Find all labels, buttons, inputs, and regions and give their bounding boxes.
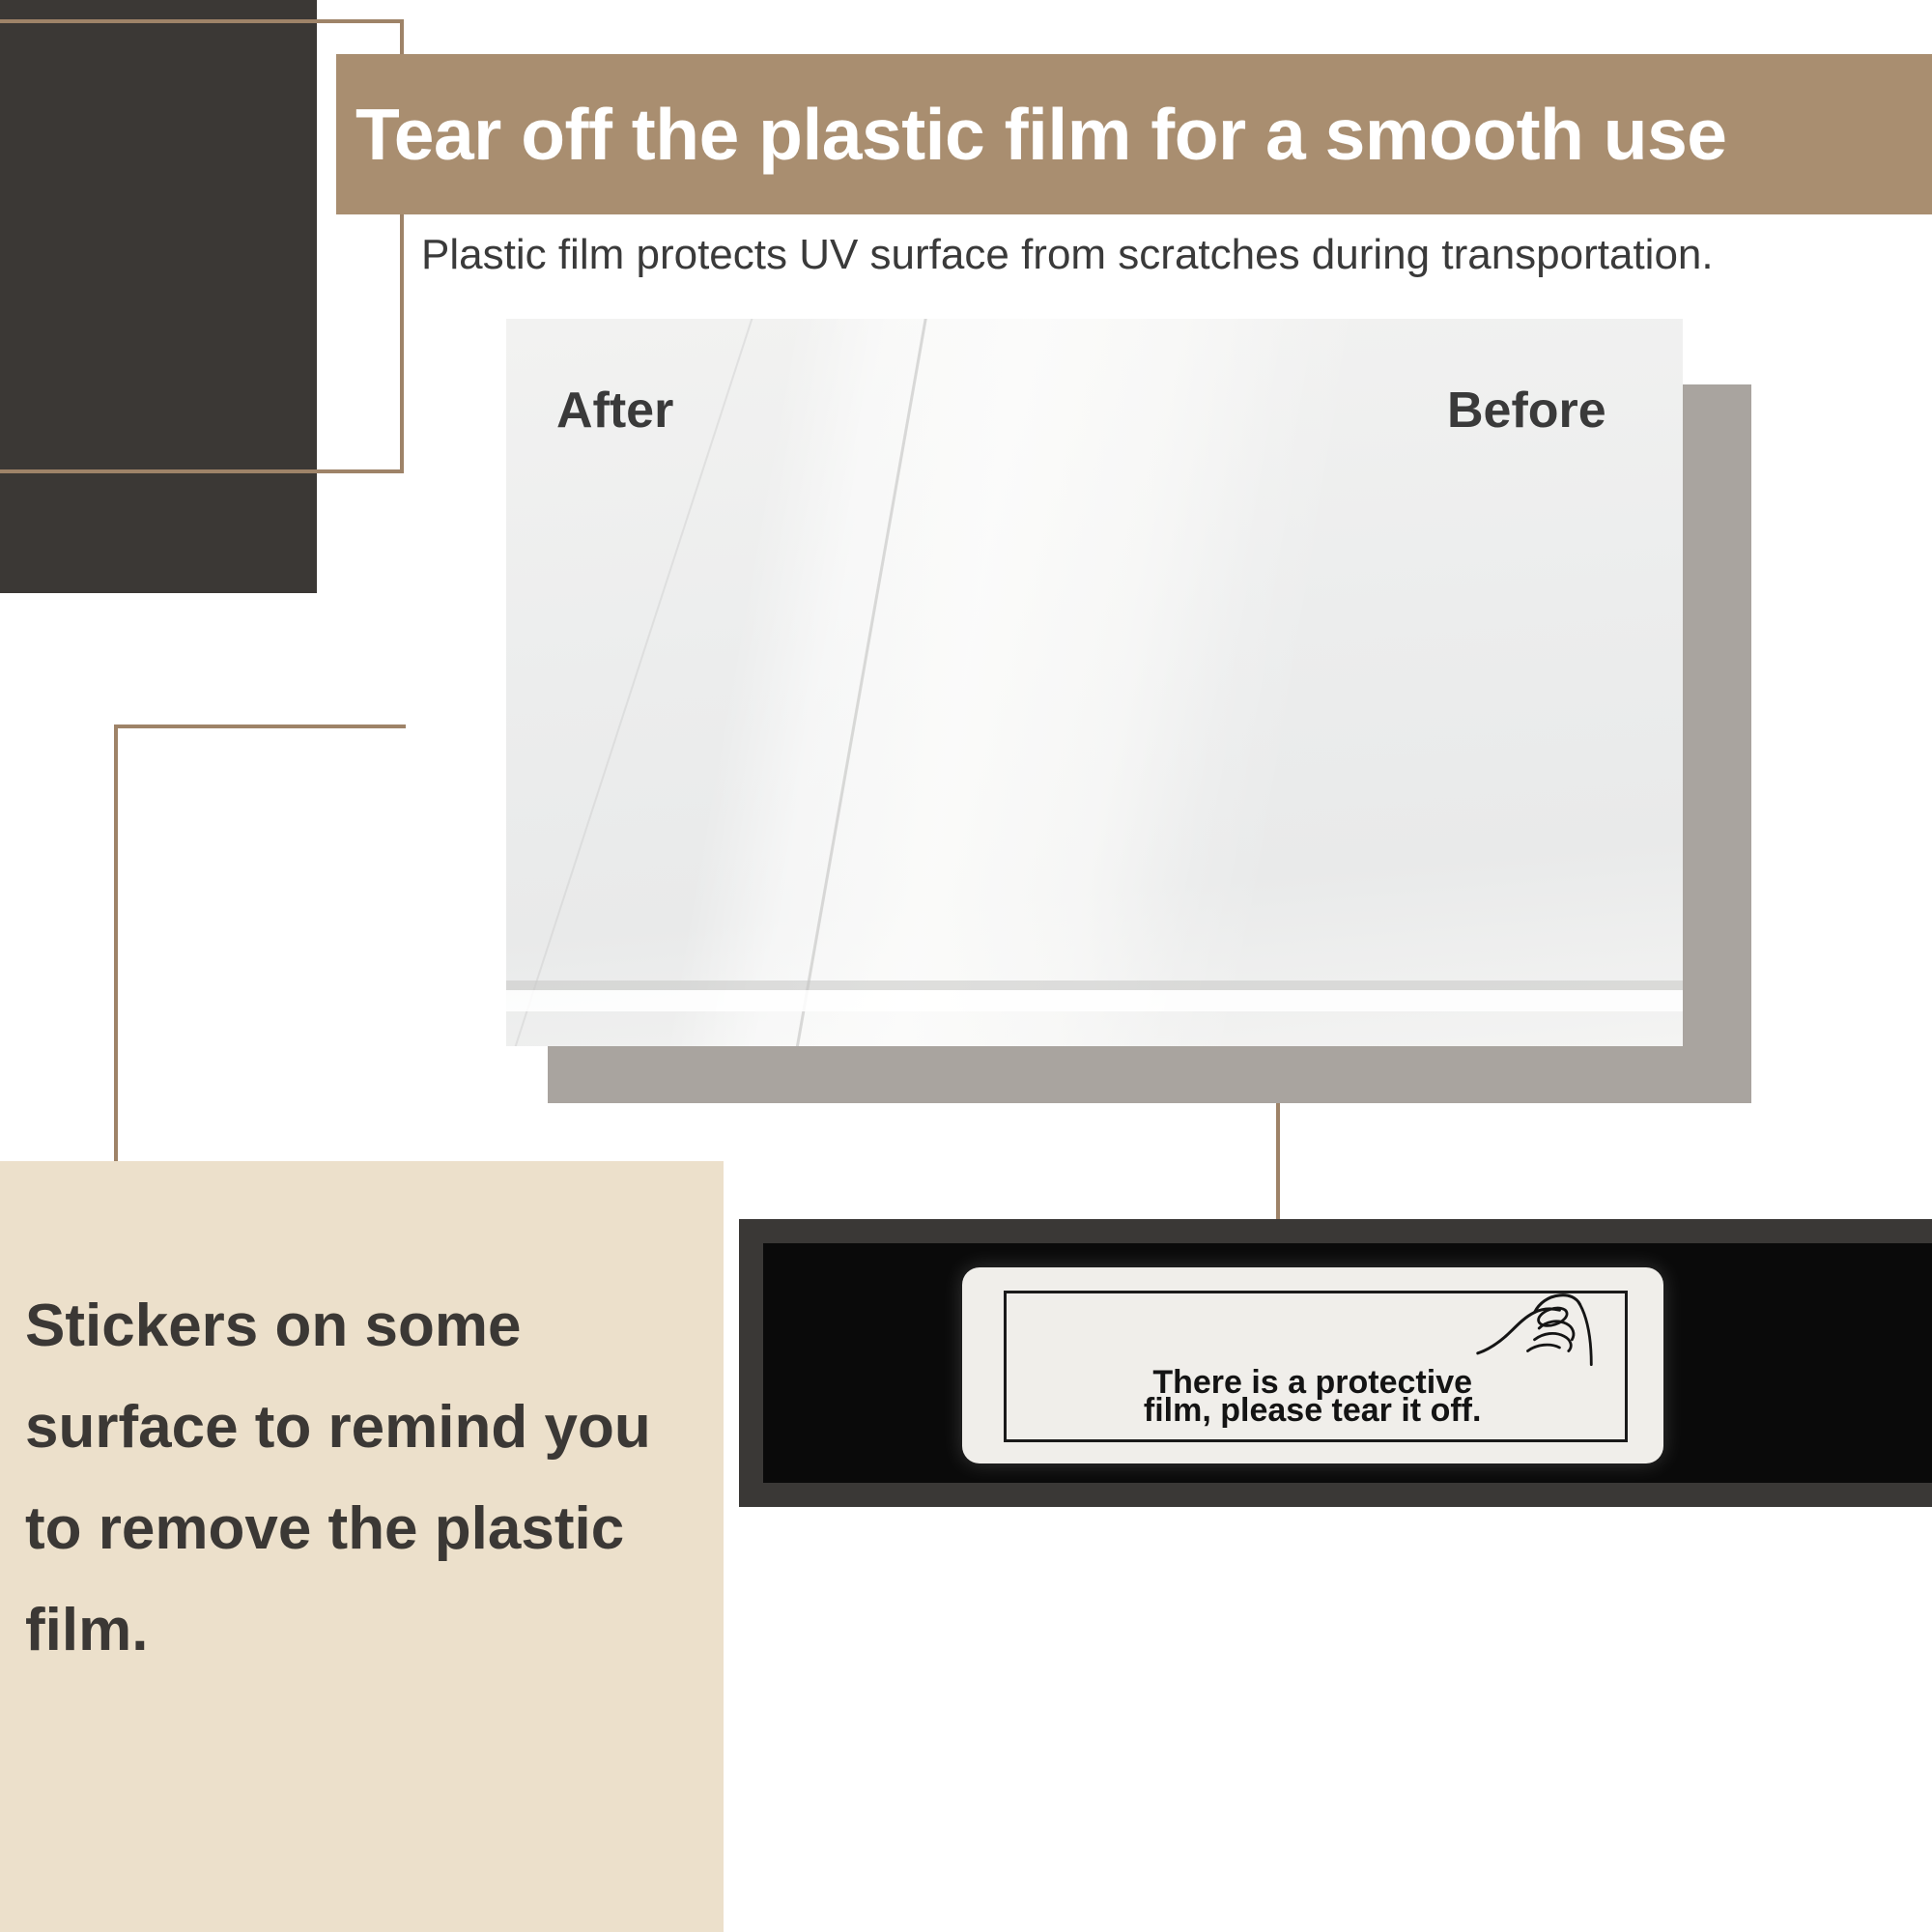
sticker-photo-background: There is a protective film, please tear … [763, 1243, 1932, 1483]
page-subtitle: Plastic film protects UV surface from sc… [421, 230, 1714, 280]
connector-line-horizontal [114, 724, 406, 728]
panel-edge-band [506, 980, 1683, 990]
label-before: Before [1447, 382, 1606, 440]
sticker-photo: There is a protective film, please tear … [739, 1219, 1932, 1507]
sticker-text-line2: film, please tear it off. [1032, 1389, 1593, 1432]
panel-bottom-highlight [506, 990, 1683, 1011]
callout-text: Stickers on some surface to remind you t… [25, 1275, 701, 1681]
warning-sticker: There is a protective film, please tear … [962, 1267, 1663, 1463]
connector-line-vertical-left [114, 724, 118, 1169]
page-title: Tear off the plastic film for a smooth u… [355, 71, 1920, 197]
label-after: After [556, 382, 673, 440]
